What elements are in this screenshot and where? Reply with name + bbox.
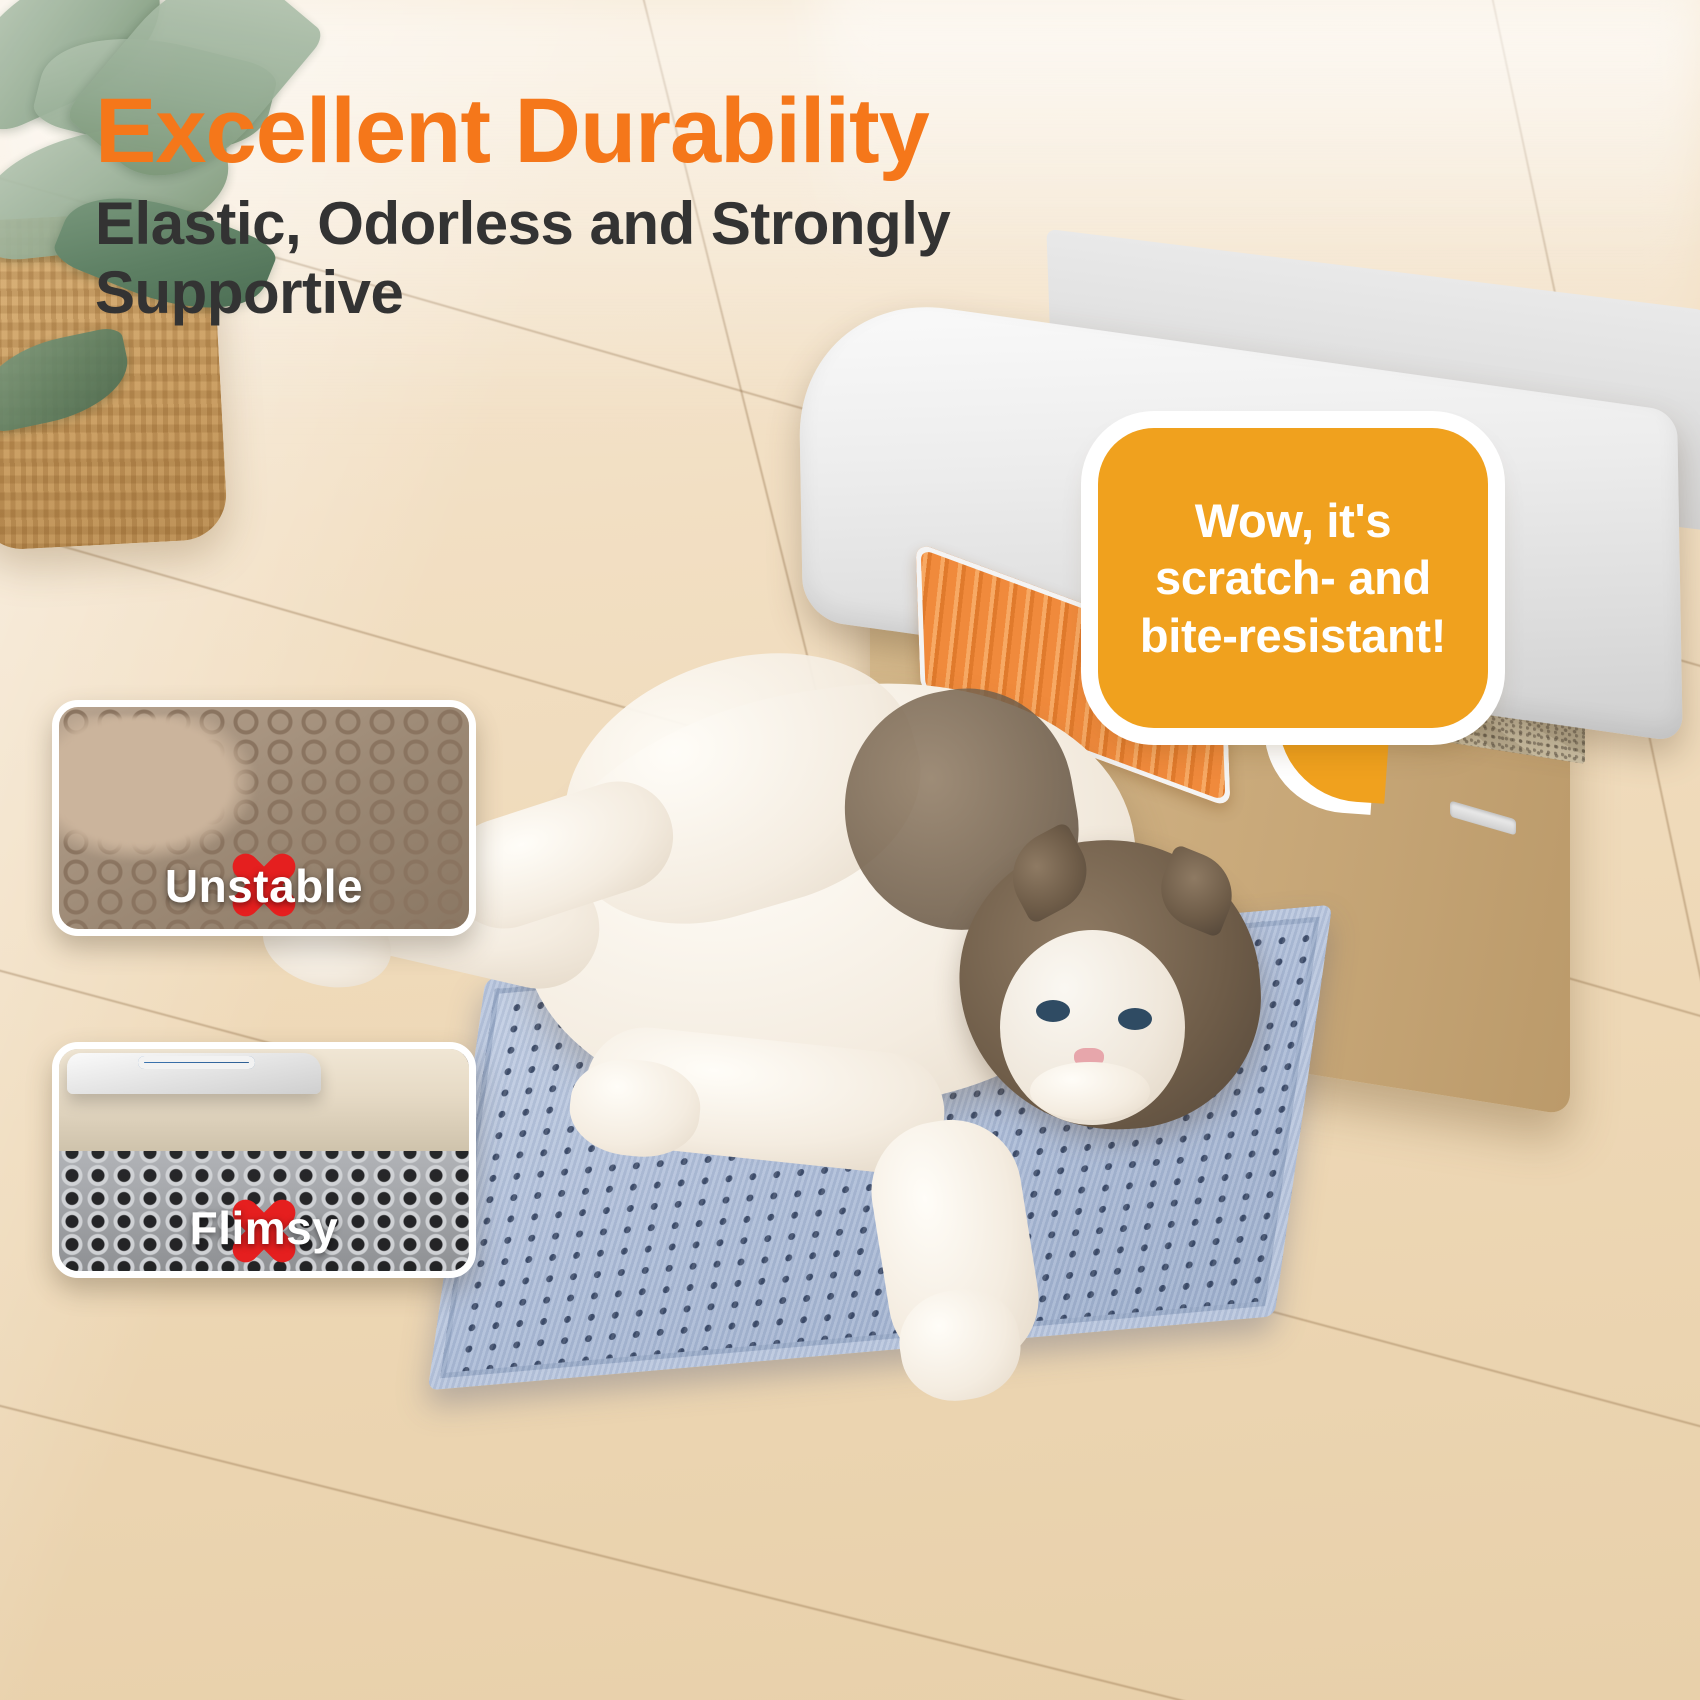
- room-background: [59, 1049, 469, 1151]
- comparison-card-caption: Unstable: [59, 859, 469, 913]
- speech-bubble-text: Wow, it's scratch- and bite-resistant!: [1098, 492, 1488, 664]
- speech-bubble-body: Wow, it's scratch- and bite-resistant!: [1098, 428, 1488, 728]
- cat-eye-right: [1118, 1008, 1152, 1030]
- page-title: Excellent Durability: [95, 86, 1115, 176]
- litter-box-inset: [67, 1053, 321, 1094]
- comparison-card-caption: Flimsy: [59, 1201, 469, 1255]
- speech-bubble: Wow, it's scratch- and bite-resistant!: [1098, 428, 1488, 728]
- cat-muzzle: [1030, 1062, 1150, 1120]
- comparison-card-unstable[interactable]: Unstable: [52, 700, 476, 936]
- headline-block: Excellent Durability Elastic, Odorless a…: [95, 86, 1115, 327]
- cat-eye-left: [1036, 1000, 1070, 1022]
- litter-box-window: [138, 1056, 255, 1068]
- product-feature-image: Excellent Durability Elastic, Odorless a…: [0, 0, 1700, 1700]
- page-subtitle: Elastic, Odorless and Strongly Supportiv…: [95, 190, 1115, 327]
- comparison-card-flimsy[interactable]: Flimsy: [52, 1042, 476, 1278]
